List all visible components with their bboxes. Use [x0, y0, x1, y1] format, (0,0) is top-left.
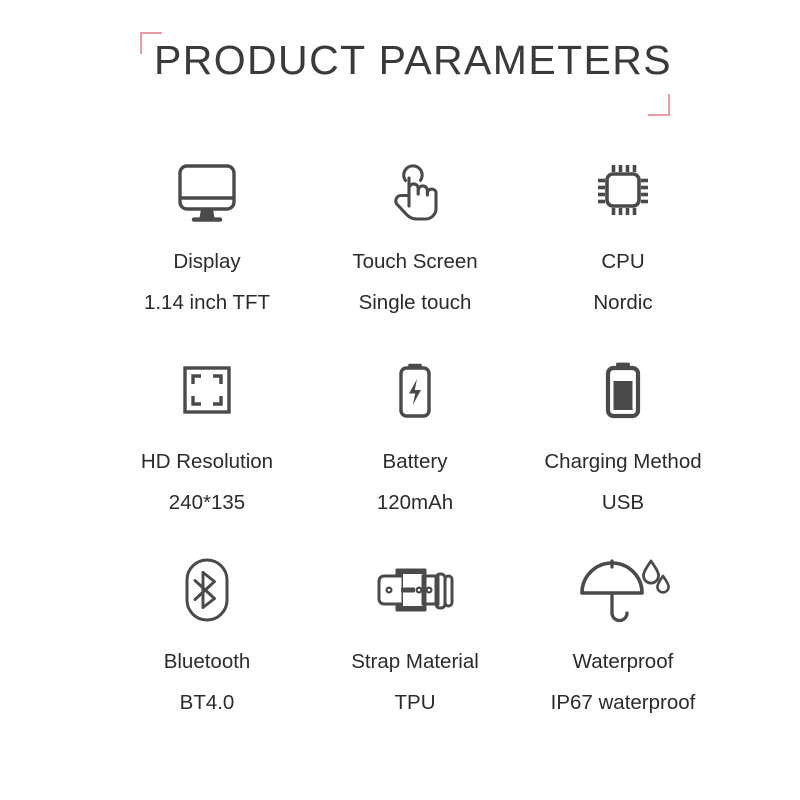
spec-value: Single touch: [359, 293, 472, 314]
spec-item-touch-screen: Touch Screen Single touch: [311, 140, 519, 340]
spec-grid: Display 1.14 inch TFT Touch Screen Singl…: [103, 140, 727, 740]
spec-value: 1.14 inch TFT: [144, 293, 270, 314]
watch-strap-icon: [367, 540, 463, 640]
spec-name: Charging Method: [544, 452, 701, 473]
spec-value: BT4.0: [180, 693, 235, 714]
spec-item-battery: Battery 120mAh: [311, 340, 519, 540]
spec-name: HD Resolution: [141, 452, 273, 473]
spec-item-hd-resolution: HD Resolution 240*135: [103, 340, 311, 540]
battery-filled-icon: [587, 340, 659, 440]
spec-value: IP67 waterproof: [551, 693, 696, 714]
spec-value: Nordic: [593, 293, 652, 314]
spec-name: CPU: [601, 252, 644, 273]
spec-value: TPU: [395, 693, 436, 714]
touch-hand-icon: [379, 140, 451, 240]
resolution-frame-icon: [171, 340, 243, 440]
spec-item-display: Display 1.14 inch TFT: [103, 140, 311, 340]
spec-name: Display: [173, 252, 240, 273]
spec-value: 120mAh: [377, 493, 453, 514]
monitor-icon: [171, 140, 243, 240]
spec-value: USB: [602, 493, 644, 514]
spec-item-charging-method: Charging Method USB: [519, 340, 727, 540]
spec-item-bluetooth: Bluetooth BT4.0: [103, 540, 311, 740]
page-title-block: PRODUCT PARAMETERS: [140, 32, 670, 116]
spec-item-cpu: CPU Nordic: [519, 140, 727, 340]
spec-name: Waterproof: [573, 652, 674, 673]
cpu-chip-icon: [587, 140, 659, 240]
spec-name: Bluetooth: [164, 652, 251, 673]
page-title: PRODUCT PARAMETERS: [154, 38, 672, 83]
spec-value: 240*135: [169, 493, 245, 514]
title-bracket-bottom-right-icon: [648, 94, 670, 116]
spec-name: Touch Screen: [352, 252, 477, 273]
bluetooth-icon: [171, 540, 243, 640]
spec-name: Strap Material: [351, 652, 479, 673]
spec-name: Battery: [383, 452, 448, 473]
spec-item-waterproof: Waterproof IP67 waterproof: [519, 540, 727, 740]
umbrella-rain-icon: [574, 540, 672, 640]
spec-item-strap-material: Strap Material TPU: [311, 540, 519, 740]
battery-bolt-icon: [379, 340, 451, 440]
